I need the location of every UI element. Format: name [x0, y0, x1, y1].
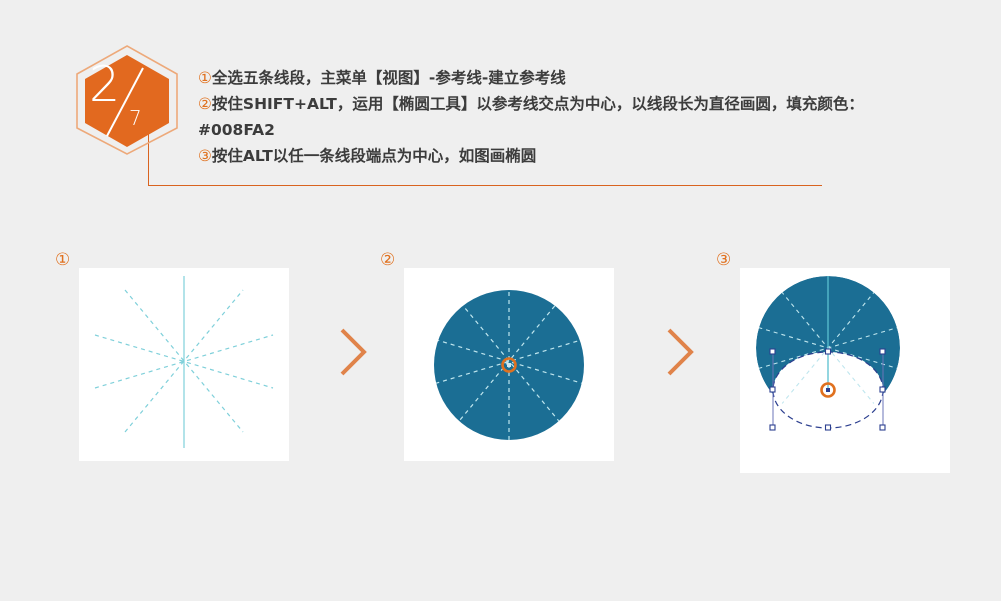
- instruction-text-3: 按住ALT以任一条线段端点为中心，如图画椭圆: [212, 147, 536, 165]
- canvas-ellipse: [740, 268, 950, 473]
- step-panel-row: ① ②: [0, 248, 1001, 478]
- chevron-right-icon: [336, 326, 370, 378]
- instruction-line-1: ①全选五条线段，主菜单【视图】-参考线-建立参考线: [198, 65, 898, 91]
- instruction-marker-1: ①: [198, 69, 212, 87]
- instruction-marker-3: ③: [198, 147, 212, 165]
- filled-circle-icon: [404, 268, 614, 461]
- flow-arrow-1: [336, 326, 370, 378]
- step-label-2: ②: [380, 252, 395, 269]
- canvas-circle: [404, 268, 614, 461]
- instruction-marker-2: ②: [198, 95, 212, 113]
- flow-arrow-2: [663, 326, 697, 378]
- instruction-text-2: 按住SHIFT+ALT，运用【椭圆工具】以参考线交点为中心，以线段长为直径画圆，…: [198, 95, 864, 139]
- step-label-3: ③: [716, 252, 731, 269]
- canvas-guides: [79, 268, 289, 461]
- instruction-text-1: 全选五条线段，主菜单【视图】-参考线-建立参考线: [212, 69, 566, 87]
- hexagon-badge-icon: [71, 44, 183, 156]
- step-badge: 2 7: [71, 44, 183, 156]
- step-panel-circle: ②: [404, 248, 614, 463]
- chevron-right-icon: [663, 326, 697, 378]
- guide-lines-icon: [79, 268, 289, 461]
- step-panel-ellipse: ③: [740, 248, 950, 463]
- ellipse-selection-icon: [740, 268, 916, 473]
- header-block: 2 7 ①全选五条线段，主菜单【视图】-参考线-建立参考线 ②按住SHIFT+A…: [0, 0, 1001, 210]
- instruction-line-2: ②按住SHIFT+ALT，运用【椭圆工具】以参考线交点为中心，以线段长为直径画圆…: [198, 91, 898, 143]
- instruction-line-3: ③按住ALT以任一条线段端点为中心，如图画椭圆: [198, 143, 898, 169]
- step-panel-guides: ①: [79, 248, 289, 463]
- instruction-list: ①全选五条线段，主菜单【视图】-参考线-建立参考线 ②按住SHIFT+ALT，运…: [198, 65, 898, 169]
- step-label-1: ①: [55, 252, 70, 269]
